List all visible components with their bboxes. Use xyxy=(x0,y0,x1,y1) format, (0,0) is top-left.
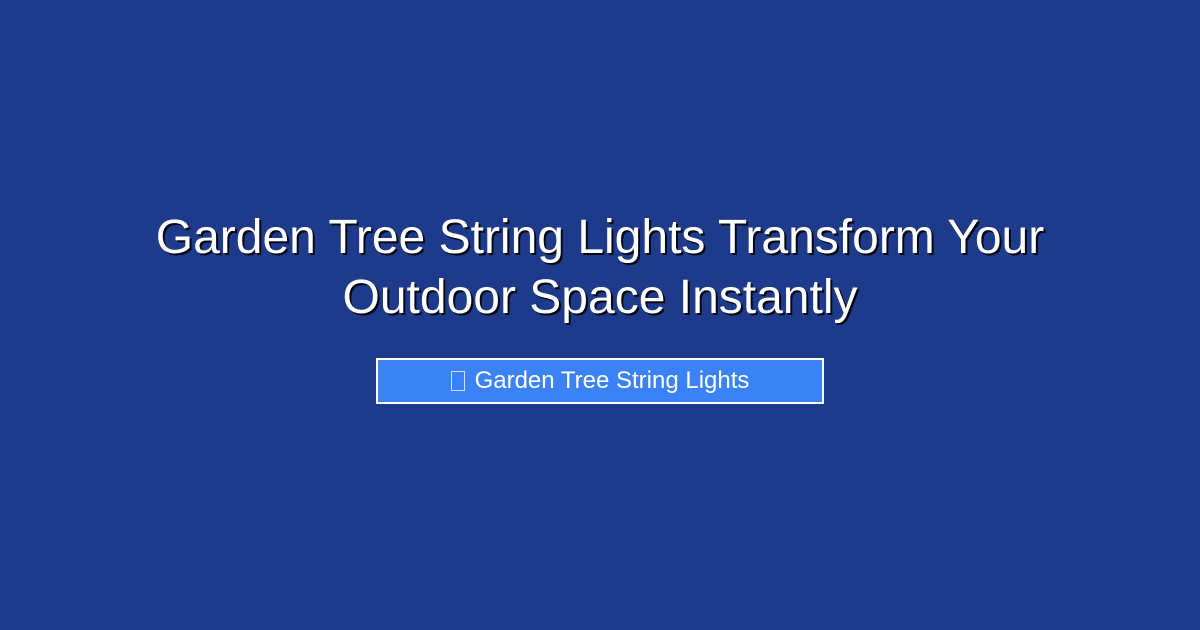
missing-glyph-box-icon xyxy=(451,371,465,391)
cta-container: Garden Tree String Lights xyxy=(100,358,1100,404)
page-title: Garden Tree String Lights Transform Your… xyxy=(130,208,1070,328)
card-content: Garden Tree String Lights Transform Your… xyxy=(100,208,1100,404)
social-share-card: Garden Tree String Lights Transform Your… xyxy=(0,0,1200,630)
cta-button-label: Garden Tree String Lights xyxy=(475,369,750,393)
garden-tree-string-lights-button[interactable]: Garden Tree String Lights xyxy=(376,358,824,404)
